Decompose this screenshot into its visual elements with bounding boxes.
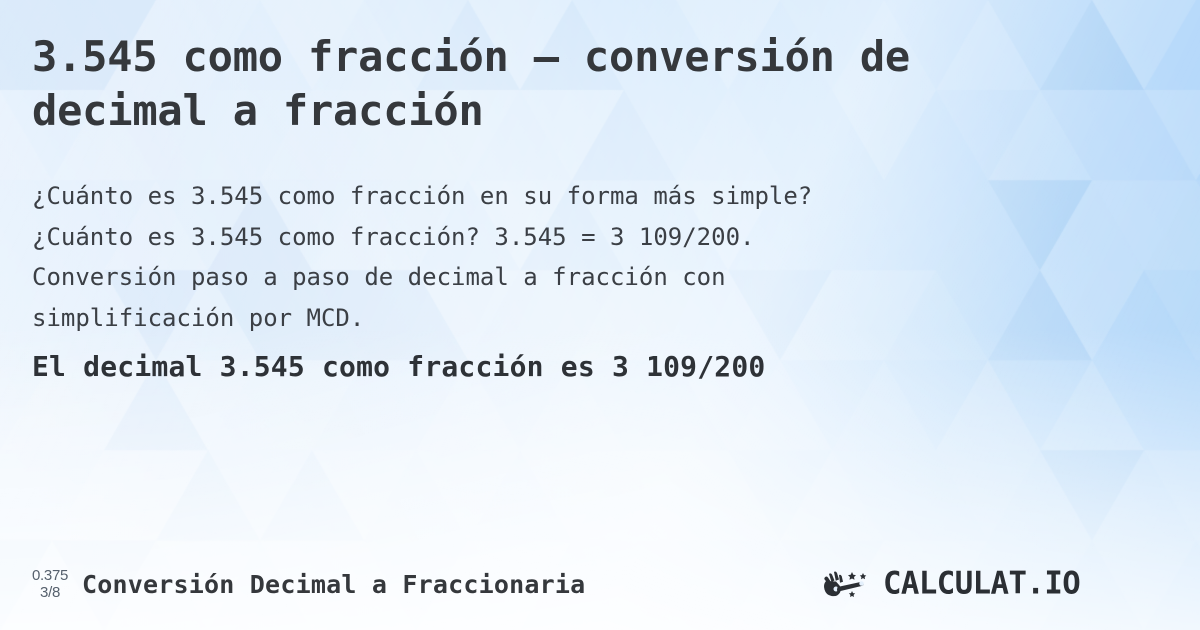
page-title-line-2: decimal a fracción [32, 86, 484, 135]
footer: 0.375 3/8 Conversión Decimal a Fracciona… [0, 556, 1200, 612]
result-statement: El decimal 3.545 como fracción es 3 109/… [32, 348, 765, 386]
hand-magic-wand-icon [821, 567, 879, 601]
intro-line-4: simplificación por MCD. [32, 298, 1112, 339]
brand-wordmark-text: CALCULAT.IO [883, 567, 1080, 601]
fraction-logo-fraction: 3/8 [40, 585, 60, 602]
footer-left-group: 0.375 3/8 Conversión Decimal a Fracciona… [32, 566, 585, 602]
fraction-logo-icon: 0.375 3/8 [32, 566, 68, 602]
page-title: 3.545 como fracción – conversión de deci… [32, 30, 1132, 138]
intro-line-1: ¿Cuánto es 3.545 como fracción en su for… [32, 176, 1112, 217]
brand-wordmark: CALCULAT.IO [883, 567, 1168, 601]
intro-paragraph: ¿Cuánto es 3.545 como fracción en su for… [32, 176, 1112, 338]
intro-line-2: ¿Cuánto es 3.545 como fracción? 3.545 = … [32, 217, 1112, 258]
intro-line-3: Conversión paso a paso de decimal a frac… [32, 257, 1112, 298]
fraction-logo-numerator-decimal: 0.375 [32, 568, 68, 585]
brand-logo[interactable]: CALCULAT.IO [821, 567, 1168, 601]
page-content: 3.545 como fracción – conversión de deci… [0, 0, 1200, 630]
footer-section-title: Conversión Decimal a Fraccionaria [82, 570, 585, 599]
page-title-line-1: 3.545 como fracción – conversión de [32, 32, 910, 81]
